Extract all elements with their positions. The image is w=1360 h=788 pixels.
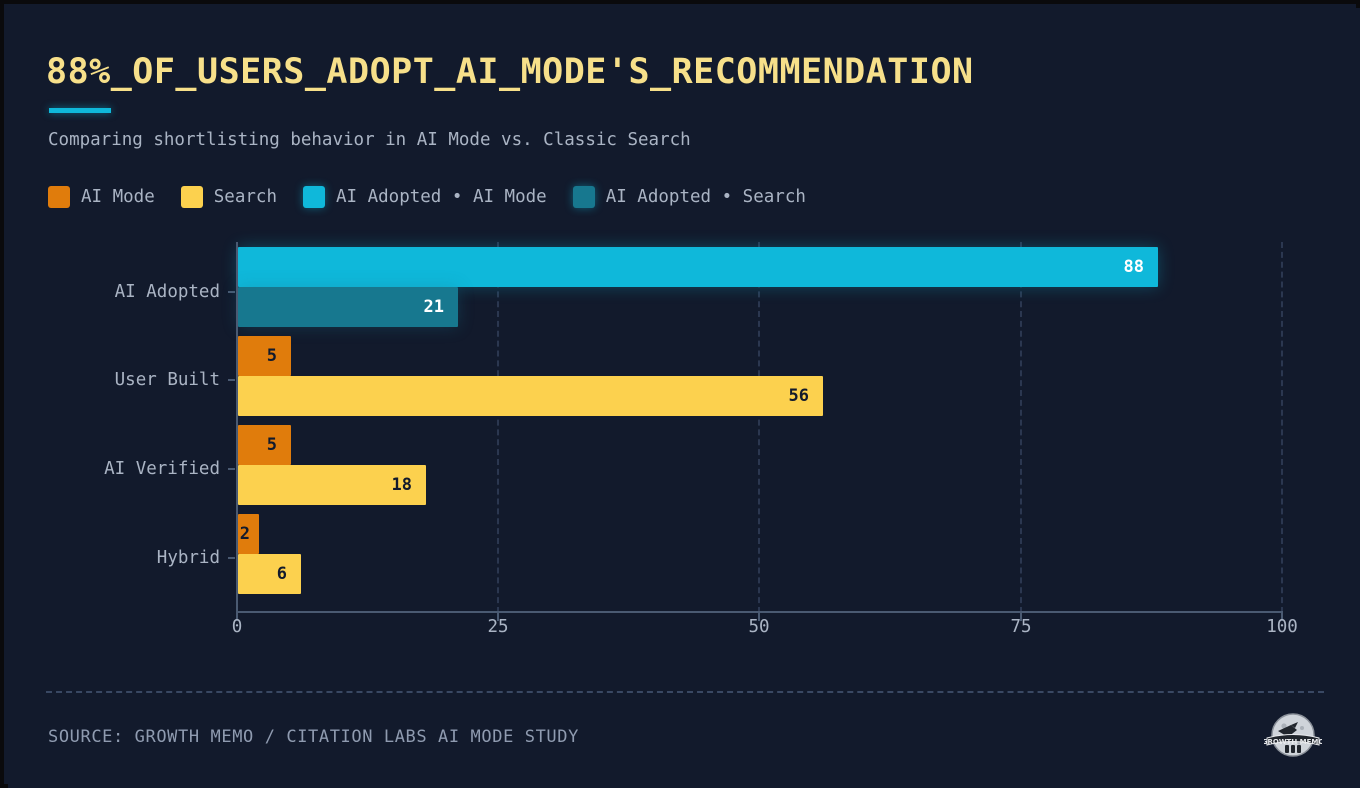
bar-value-label: 5 [238,425,277,465]
growth-memo-logo: GROWTH MEMO [1264,711,1322,763]
gridline-25 [497,242,499,613]
x-axis-label-50: 50 [719,617,799,637]
x-axis-label-0: 0 [197,617,277,637]
bar-value-label: 18 [238,465,412,505]
chart-frame: 88%_OF_USERS_ADOPT_AI_MODE'S_RECOMMENDAT… [0,0,1360,788]
bar-value-label: 6 [238,554,287,594]
bar-value-label: 21 [238,287,444,327]
chart-legend: AI Mode Search AI Adopted • AI Mode AI A… [48,184,832,210]
source-caption: SOURCE: GROWTH MEMO / CITATION LABS AI M… [48,727,579,747]
x-axis-label-25: 25 [458,617,538,637]
legend-label: AI Adopted • AI Mode [336,187,547,207]
y-axis-label-user-built: User Built [48,370,220,390]
plot-area: 88 21 5 56 5 18 2 6 [236,242,1283,613]
gridline-100 [1281,242,1283,613]
y-axis-label-hybrid: Hybrid [48,548,220,568]
y-axis-tick [228,291,235,293]
legend-item-ai-adopted-ai-mode[interactable]: AI Adopted • AI Mode [303,186,547,208]
legend-swatch-icon [181,186,203,208]
footer-divider [46,691,1324,693]
gridline-50 [758,242,760,613]
accent-underline [49,108,111,113]
chart-canvas: 88%_OF_USERS_ADOPT_AI_MODE'S_RECOMMENDAT… [8,8,1360,788]
legend-swatch-icon [303,186,325,208]
bar-value-label: 5 [238,336,277,376]
bar-value-label: 88 [238,247,1144,287]
y-axis-tick [228,557,235,559]
page-subtitle: Comparing shortlisting behavior in AI Mo… [48,130,691,150]
y-axis-label-ai-verified: AI Verified [48,459,220,479]
y-axis-tick [228,468,235,470]
x-axis-label-75: 75 [981,617,1061,637]
legend-item-ai-mode[interactable]: AI Mode [48,186,155,208]
bar-value-label: 56 [238,376,809,416]
gridline-75 [1020,242,1022,613]
legend-label: AI Adopted • Search [606,187,806,207]
legend-item-search[interactable]: Search [181,186,277,208]
bar-value-label: 2 [229,514,250,554]
y-axis-tick [228,379,235,381]
y-axis-spine [236,242,238,613]
logo-text: GROWTH MEMO [1264,738,1322,746]
legend-item-ai-adopted-search[interactable]: AI Adopted • Search [573,186,806,208]
page-title: 88%_OF_USERS_ADOPT_AI_MODE'S_RECOMMENDAT… [46,52,974,92]
legend-label: AI Mode [81,187,155,207]
legend-swatch-icon [48,186,70,208]
x-axis-label-100: 100 [1242,617,1322,637]
legend-swatch-icon [573,186,595,208]
legend-label: Search [214,187,277,207]
y-axis-label-ai-adopted: AI Adopted [48,282,220,302]
